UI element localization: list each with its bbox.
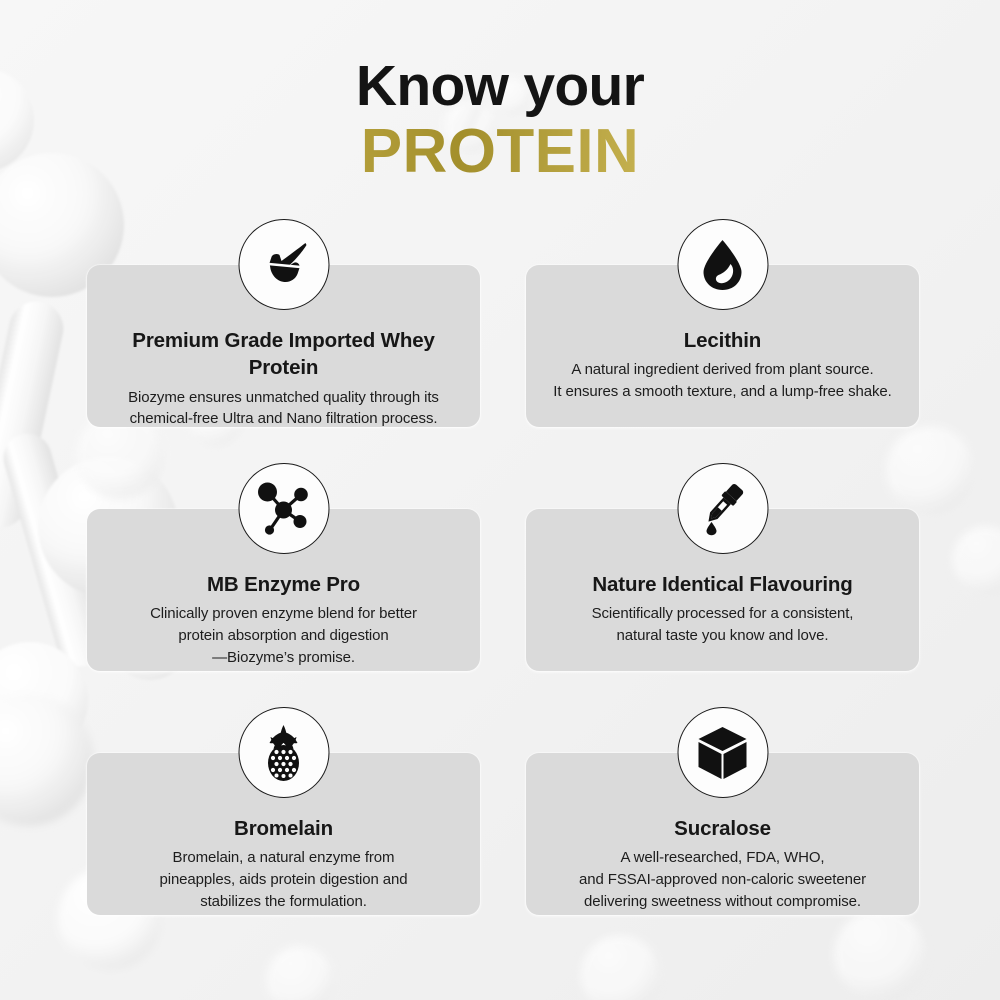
feature-description: A natural ingredient derived from plant … <box>544 359 901 403</box>
feature-title: MB Enzyme Pro <box>105 571 462 598</box>
feature-cell-lecithin: Lecithin A natural ingredient derived fr… <box>526 265 919 427</box>
feature-cell-mb-enzyme-pro: MB Enzyme Pro Clinically proven enzyme b… <box>87 509 480 671</box>
feature-title: Nature Identical Flavouring <box>544 571 901 598</box>
feature-description: Bromelain, a natural enzyme from pineapp… <box>105 847 462 913</box>
feature-description: Clinically proven enzyme blend for bette… <box>105 603 462 669</box>
feature-title: Bromelain <box>105 815 462 842</box>
molecule-icon <box>238 463 329 554</box>
feature-cell-bromelain: Bromelain Bromelain, a natural enzyme fr… <box>87 753 480 915</box>
feature-title: Sucralose <box>544 815 901 842</box>
feature-description: A well-researched, FDA, WHO, and FSSAI-a… <box>544 847 901 913</box>
protein-scoop-icon <box>238 219 329 310</box>
water-droplet-icon <box>677 219 768 310</box>
feature-title: Premium Grade Imported Whey Protein <box>105 327 462 382</box>
feature-cell-nature-identical-flavouring: Nature Identical Flavouring Scientifical… <box>526 509 919 671</box>
feature-description: Biozyme ensures unmatched quality throug… <box>105 387 462 431</box>
feature-grid: Premium Grade Imported Whey Protein Bioz… <box>87 265 919 915</box>
feature-cell-premium-grade-imported-whey-protein: Premium Grade Imported Whey Protein Bioz… <box>87 265 480 427</box>
feature-cell-sucralose: Sucralose A well-researched, FDA, WHO, a… <box>526 753 919 915</box>
page-title: Know your PROTEIN <box>0 58 1000 188</box>
dropper-pipette-icon <box>677 463 768 554</box>
sugar-cube-icon <box>677 707 768 798</box>
feature-description: Scientifically processed for a consisten… <box>544 603 901 647</box>
pineapple-icon <box>238 707 329 798</box>
infographic-poster: Know your PROTEIN Premium Grade Imported… <box>0 0 1000 1000</box>
page-title-line-2: PROTEIN <box>0 115 1000 188</box>
page-title-line-1: Know your <box>0 58 1000 115</box>
feature-title: Lecithin <box>544 327 901 354</box>
